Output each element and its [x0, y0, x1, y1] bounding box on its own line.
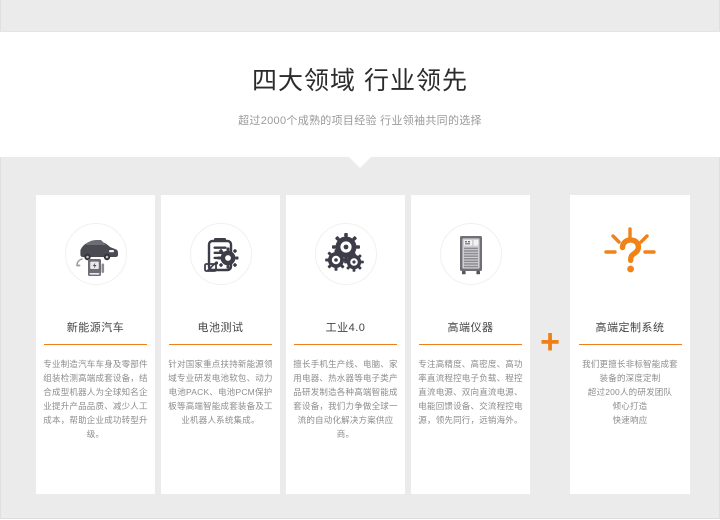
- top-gray-strip: [0, 0, 720, 32]
- plus-icon: +: [540, 325, 560, 359]
- cards-section: 新能源汽车 专业制造汽车车身及零部件组装检测高端成套设备，结合成型机器人为全球知…: [0, 157, 720, 519]
- page-title: 四大领域 行业领先: [0, 65, 720, 97]
- section-notch-triangle: [349, 157, 371, 168]
- card-industry-40[interactable]: 工业4.0 擅长手机生产线、电脑、家用电器、热水器等电子类产品研发制造各种高端智…: [286, 195, 405, 494]
- card-description: 专业制造汽车车身及零部件组装检测高端成套设备，结合成型机器人为全球知名企业提升产…: [43, 357, 148, 441]
- card-title: 新能源汽车: [67, 319, 125, 335]
- card-description-line: 快速响应: [578, 413, 683, 427]
- card-high-end-instrument[interactable]: 高端仪器 专注高精度、高密度、高功率直流程控电子负载、程控直流电源、双向直流电源…: [411, 195, 530, 494]
- card-description-line: 装备的深度定制: [578, 371, 683, 385]
- card-new-energy-vehicle[interactable]: 新能源汽车 专业制造汽车车身及零部件组装检测高端成套设备，结合成型机器人为全球知…: [36, 195, 155, 494]
- three-gears-icon: [315, 223, 377, 285]
- card-description: 专注高精度、高密度、高功率直流程控电子负载、程控直流电源、双向直流电源、电能回馈…: [418, 357, 523, 427]
- card-divider: [294, 344, 397, 345]
- card-description-line: 我们更擅长非标智能成套: [578, 357, 683, 371]
- card-custom-system[interactable]: 高端定制系统 我们更擅长非标智能成套 装备的深度定制 超过200人的研发团队 倾…: [570, 195, 690, 494]
- card-title: 工业4.0: [326, 319, 366, 335]
- card-title: 高端定制系统: [596, 319, 665, 335]
- section-header: 四大领域 行业领先 超过2000个成熟的项目经验 行业领袖共同的选择: [0, 33, 720, 157]
- card-description-line: 超过200人的研发团队: [578, 385, 683, 399]
- cards-row: 新能源汽车 专业制造汽车车身及零部件组装检测高端成套设备，结合成型机器人为全球知…: [36, 195, 690, 494]
- card-description: 我们更擅长非标智能成套 装备的深度定制 超过200人的研发团队 倾心打造 快速响…: [578, 357, 683, 427]
- card-description: 擅长手机生产线、电脑、家用电器、热水器等电子类产品研发制造各种高端智能成套设备，…: [293, 357, 398, 441]
- battery-gear-test-icon: [190, 223, 252, 285]
- instrument-rack-cabinet-icon: [440, 223, 502, 285]
- card-description-line: 倾心打造: [578, 399, 683, 413]
- card-title: 高端仪器: [448, 319, 494, 335]
- card-battery-testing[interactable]: 电池测试 针对国家重点扶持新能源领域专业研发电池软包、动力电池PACK、电池PC…: [161, 195, 280, 494]
- card-divider: [579, 344, 682, 345]
- card-title: 电池测试: [198, 319, 244, 335]
- card-divider: [44, 344, 147, 345]
- plus-separator: +: [530, 195, 570, 494]
- electric-vehicle-charging-icon: [65, 223, 127, 285]
- question-mark-idea-icon: [599, 223, 661, 285]
- card-divider: [419, 344, 522, 345]
- page-root: 四大领域 行业领先 超过2000个成熟的项目经验 行业领袖共同的选择: [0, 0, 720, 520]
- card-description: 针对国家重点扶持新能源领域专业研发电池软包、动力电池PACK、电池PCM保护板等…: [168, 357, 273, 427]
- card-divider: [169, 344, 272, 345]
- page-subtitle: 超过2000个成熟的项目经验 行业领袖共同的选择: [0, 113, 720, 129]
